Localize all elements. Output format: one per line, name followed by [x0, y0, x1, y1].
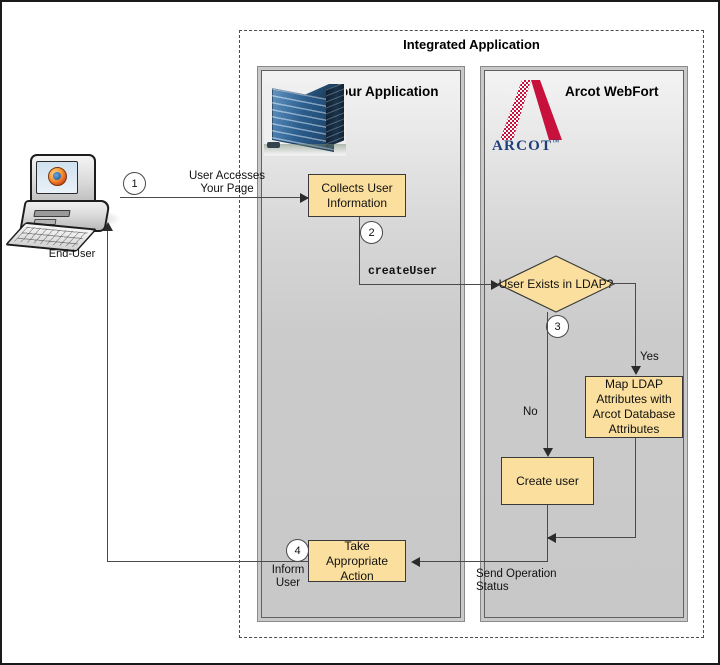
marker-2: 2	[360, 221, 383, 244]
marker-1: 1	[123, 172, 146, 195]
node-take-appropriate-action[interactable]: Take Appropriate Action	[308, 540, 406, 582]
diagram-canvas: Integrated Application Your Application …	[0, 0, 720, 665]
node-user-exists-in-ldap[interactable]: User Exists in LDAP?	[497, 255, 615, 313]
edge-label-send-operation-status: Send Operation Status	[476, 568, 588, 594]
edge-create-user-hline	[359, 284, 499, 285]
edge-user-accesses-line	[120, 197, 308, 198]
arcot-a-mark	[500, 80, 562, 140]
tower-drive-slot	[33, 210, 70, 217]
edge-yes-arrowhead	[631, 366, 641, 375]
edge-inform-user-arrowhead	[103, 222, 113, 231]
marker-2-value: 2	[368, 227, 374, 239]
node-map-ldap-attributes-label: Map LDAP Attributes with Arcot Database …	[586, 377, 682, 437]
marker-3-value: 3	[554, 321, 560, 333]
marker-1-value: 1	[131, 178, 137, 190]
edge-no-vline	[547, 312, 548, 452]
edge-label-user-accesses: User Accesses Your Page	[162, 170, 292, 196]
edge-label-inform-user: Inform User	[258, 564, 318, 590]
node-create-user[interactable]: Create user	[501, 457, 594, 505]
arcot-wordmark: ARCOT™	[492, 138, 560, 155]
office-building-photo	[264, 84, 346, 156]
decision-diamond-shape	[497, 255, 615, 313]
edge-label-no: No	[523, 406, 547, 419]
edge-yes-vline	[635, 283, 636, 369]
marker-3: 3	[546, 315, 569, 338]
arcot-wordmark-text: ARCOT	[492, 138, 552, 154]
node-map-ldap-attributes[interactable]: Map LDAP Attributes with Arcot Database …	[585, 376, 683, 438]
end-user-label: End-User	[12, 248, 132, 260]
edge-map-ldap-out-arrowhead	[547, 533, 556, 543]
edge-inform-user-vline	[107, 228, 108, 562]
arcot-trademark-symbol: ™	[552, 138, 560, 146]
edge-map-ldap-out-hline	[548, 537, 636, 538]
edge-label-yes: Yes	[640, 351, 670, 364]
edge-label-create-user: createUser	[368, 265, 437, 278]
marker-4-value: 4	[294, 545, 300, 557]
group-title-integrated-application: Integrated Application	[239, 37, 704, 52]
lane-title-your-application: Your Application	[332, 84, 439, 99]
edge-map-ldap-out-vline	[635, 438, 636, 538]
node-collects-user-information-label: Collects User Information	[309, 181, 405, 211]
edge-send-status-hline	[416, 561, 548, 562]
end-user-computer: End-User	[12, 152, 132, 264]
edge-no-arrowhead	[543, 448, 553, 457]
marker-4: 4	[286, 539, 309, 562]
edge-yes-hline	[614, 283, 636, 284]
arcot-logo: ARCOT™	[492, 80, 582, 160]
node-create-user-label: Create user	[512, 474, 583, 489]
firefox-browser-icon	[48, 167, 67, 186]
node-collects-user-information[interactable]: Collects User Information	[308, 174, 406, 217]
node-take-appropriate-action-label: Take Appropriate Action	[309, 539, 405, 584]
edge-send-status-arrowhead	[411, 557, 420, 567]
edge-inform-user-hline	[107, 561, 309, 562]
